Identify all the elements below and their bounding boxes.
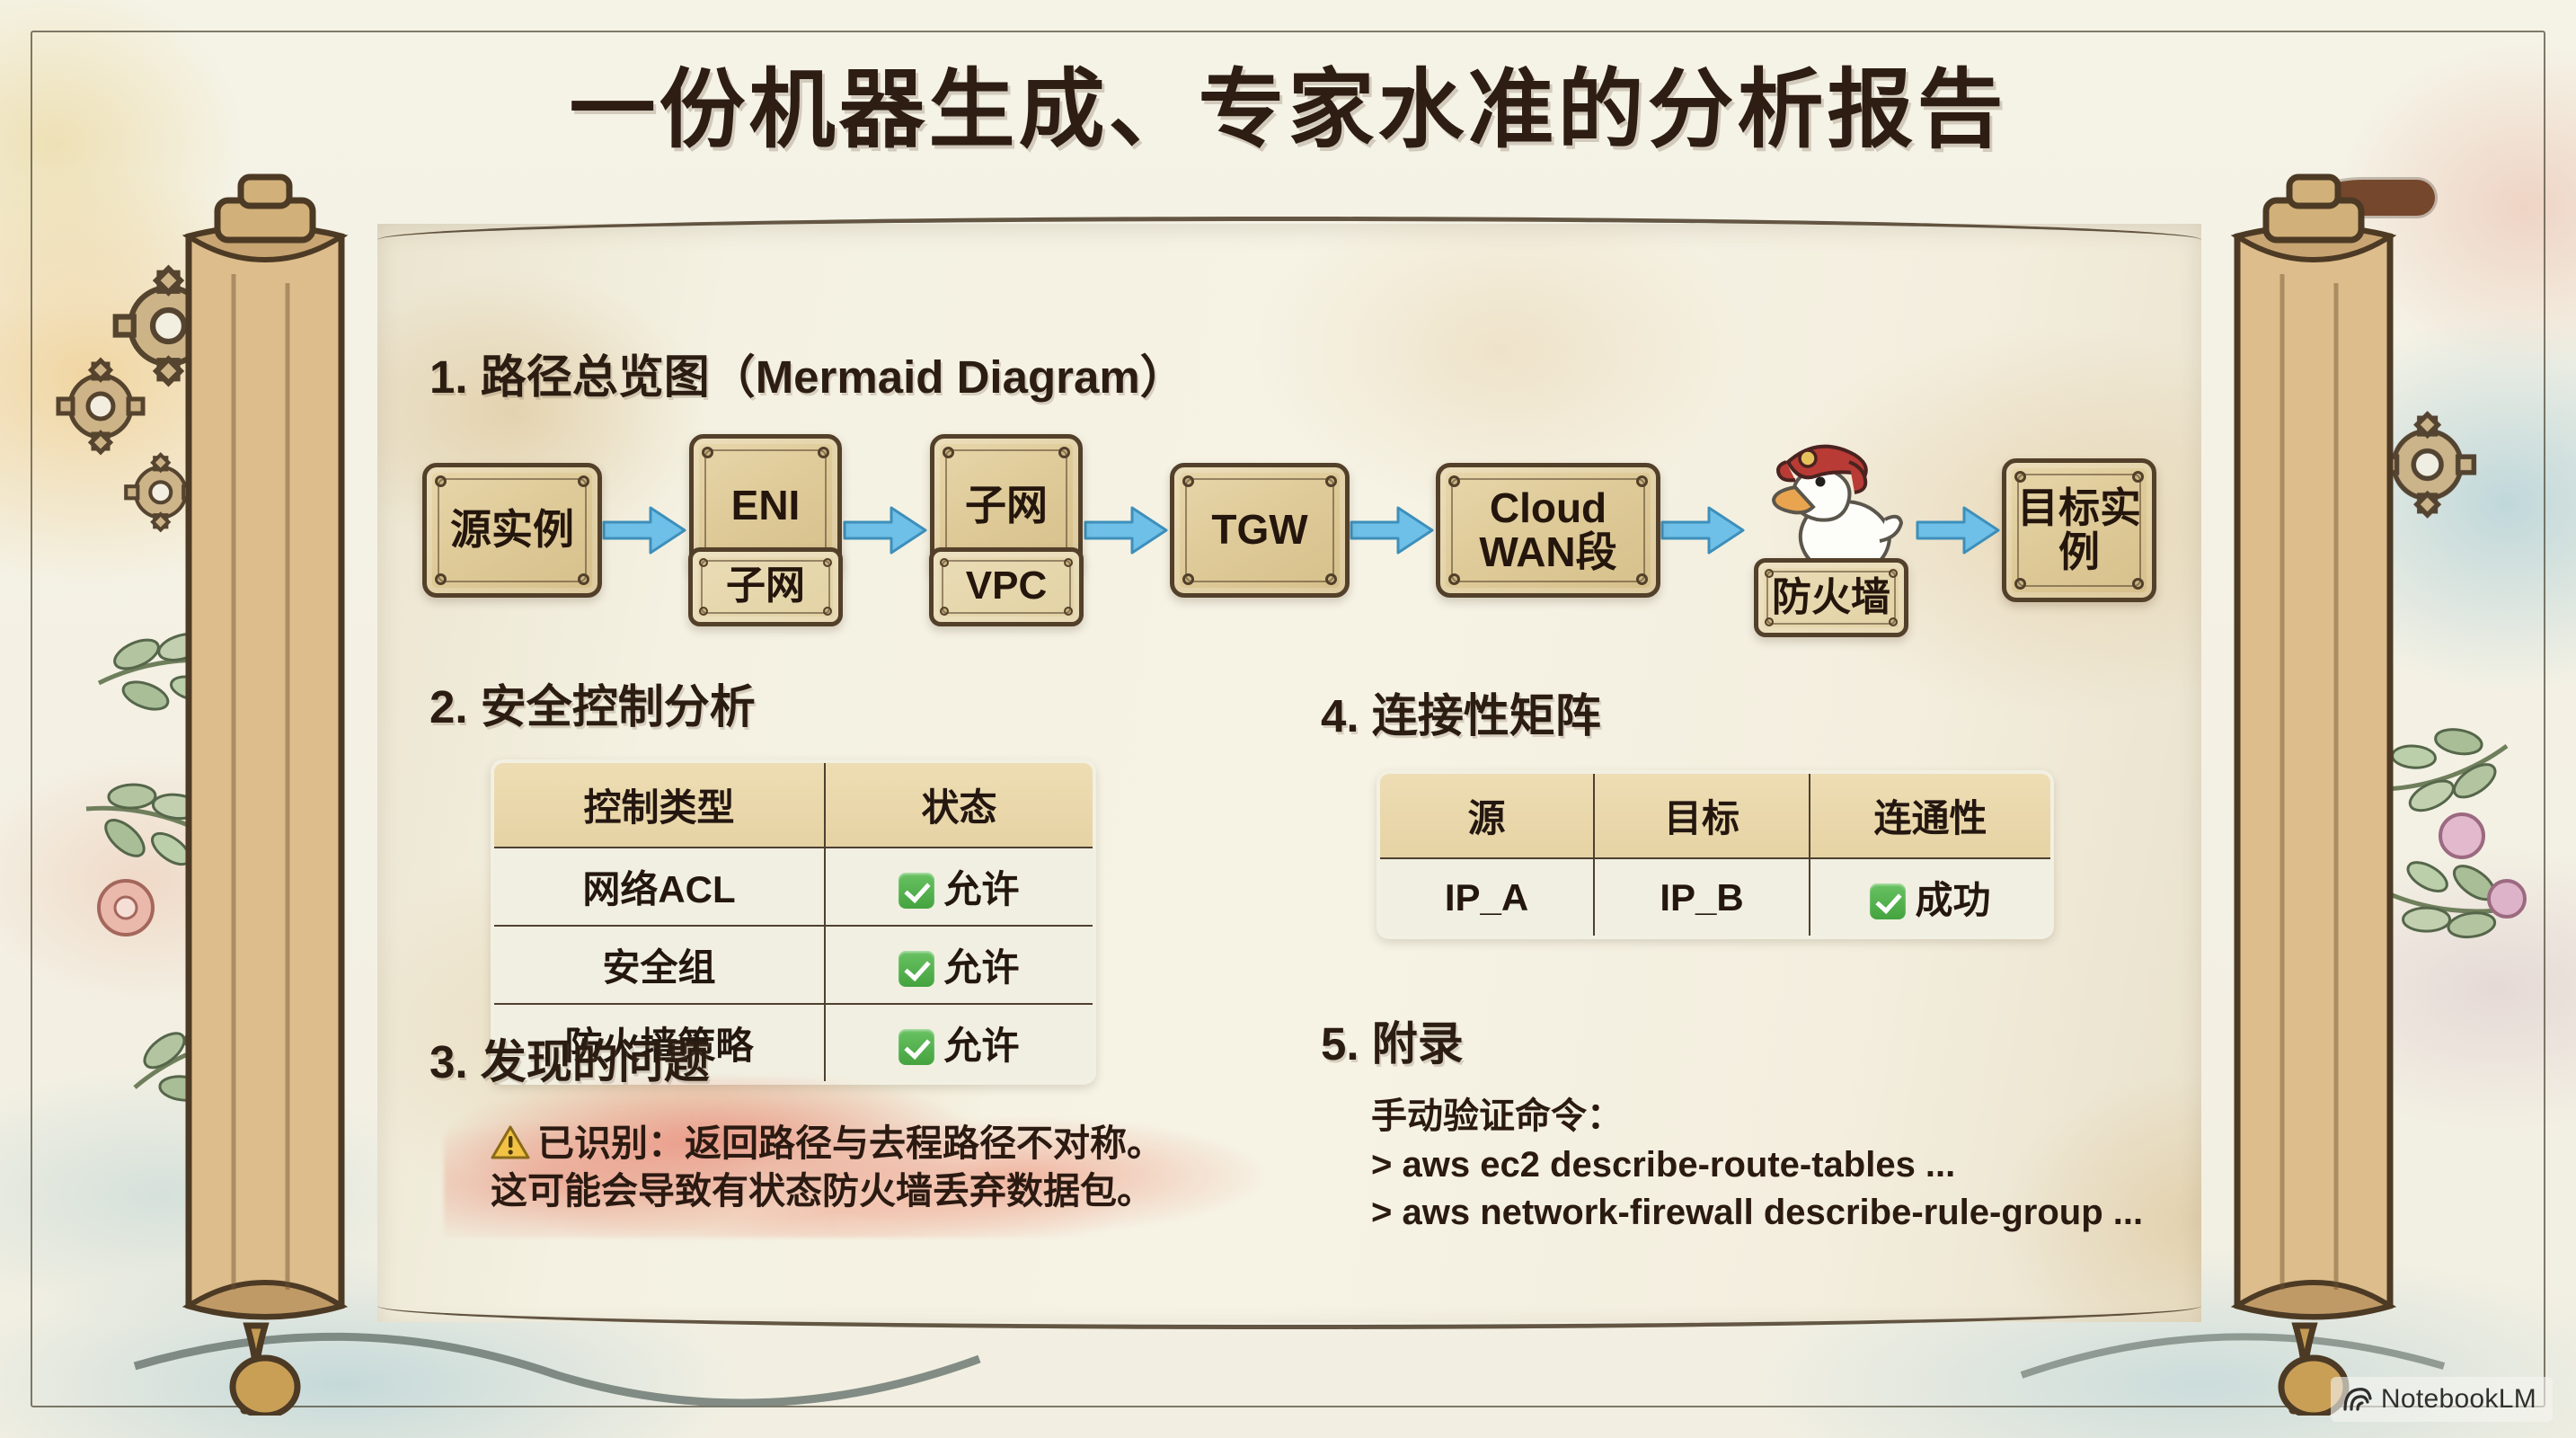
node-sub-plate: 子网 [688,547,843,626]
flow-node-source-instance[interactable]: 源实例 [422,463,602,598]
rivet-icon [435,475,447,487]
table-header-row: 源 目标 连通性 [1378,772,2052,858]
rivet-icon [1182,475,1194,487]
rivet-icon [1889,617,1898,626]
section-4-heading: 4. 连接性矩阵 [1321,679,2054,745]
path-overview-diagram: 源实例 ENI 子网 子网 [422,422,2156,637]
column-header-connectivity: 连通性 [1810,772,2052,858]
issue-line-1: 已识别：返回路径与去程路径不对称。 [491,1120,1229,1167]
column-header-destination: 目标 [1594,772,1810,858]
rivet-icon [943,447,954,458]
section-5-heading: 5. 附录 [1321,1007,2143,1073]
rivet-icon [1325,475,1337,487]
node-plate: 源实例 [422,463,602,598]
rivet-icon [1889,569,1898,578]
rivet-icon [699,558,708,567]
rivet-icon [2014,578,2026,590]
table-row: 安全组 允许 [492,926,1094,1004]
issue-line-2: 这可能会导致有状态防火墙丢弃数据包。 [491,1167,1229,1215]
arrow-right-icon [1082,502,1172,558]
notebooklm-watermark: NotebookLM [2331,1377,2553,1422]
arrow-right-icon [1914,502,2004,558]
check-icon [899,951,934,987]
rivet-icon [1325,573,1337,585]
column-header-source: 源 [1378,772,1594,858]
table-header-row: 控制类型 状态 [492,761,1094,848]
arrow-right-icon [1659,502,1748,558]
scroll-roll-left [153,130,377,1416]
appendix-content: 手动验证命令： > aws ec2 describe-route-tables … [1371,1093,2143,1238]
section-1-heading: 1. 路径总览图（Mermaid Diagram） [429,340,1186,406]
node-label: 防火墙 [1772,577,1890,618]
check-icon [1870,883,1906,919]
node-plate: Cloud WAN段 [1436,463,1660,598]
rivet-icon [2132,578,2144,590]
cell-destination: IP_B [1594,858,1810,937]
rivet-icon [435,573,447,585]
rivet-icon [1064,558,1073,567]
node-plate: TGW [1170,463,1350,598]
node-label: 源实例 [450,508,574,551]
notebooklm-logo-icon [2341,1386,2372,1413]
rivet-icon [1636,573,1648,585]
flow-node-subnet[interactable]: 子网 VPC [929,434,1084,626]
node-label: 子网 [965,484,1048,527]
rivet-icon [818,447,829,458]
rivet-icon [823,607,832,616]
cell-source: IP_A [1378,858,1594,937]
node-sub-plate: VPC [929,547,1084,626]
node-label: TGW [1211,508,1307,551]
rivet-icon [823,558,832,567]
node-sub-label: 子网 [726,565,805,607]
page-title: 一份机器生成、专家水准的分析报告 [0,40,2576,164]
rivet-icon [1064,607,1073,616]
table-row: IP_A IP_B 成功 [1378,858,2052,937]
section-5: 5. 附录 手动验证命令： > aws ec2 describe-route-t… [1321,1007,2143,1238]
rivet-icon [1765,617,1774,626]
node-label: Cloud WAN段 [1440,486,1656,573]
section-3: 3. 发现的问题 已识别：返回路径与去程路径不对称。 这可能会导致有状态防火墙丢… [429,1025,1245,1229]
arrow-right-icon [841,502,931,558]
rivet-icon [1182,573,1194,585]
flow-node-target-instance[interactable]: 目标实例 [2002,458,2156,602]
connectivity-matrix-table-wrapper: 源 目标 连通性 IP_A IP_B 成功 [1377,770,2054,939]
cell-status: 允许 [825,848,1094,926]
appendix-command-1: > aws ec2 describe-route-tables ... [1371,1141,2143,1190]
section-2-heading: 2. 安全控制分析 [429,670,1096,736]
section-2: 2. 安全控制分析 控制类型 状态 网络ACL 允许 安全组 [429,670,1096,1085]
section-4: 4. 连接性矩阵 源 目标 连通性 IP_A IP_B 成功 [1321,679,2054,939]
flow-node-tgw[interactable]: TGW [1170,463,1350,598]
cell-status: 允许 [825,926,1094,1004]
rivet-icon [2132,471,2144,483]
rivet-icon [2014,471,2026,483]
parchment-bottom-edge [377,1306,2201,1329]
watermark-label: NotebookLM [2381,1384,2536,1415]
flow-node-firewall[interactable]: 防火墙 [1750,422,1912,637]
rivet-icon [578,475,589,487]
warning-triangle-icon [491,1124,530,1160]
rivet-icon [1636,475,1648,487]
section-3-heading: 3. 发现的问题 [429,1025,1245,1091]
scroll-roll-right [2201,130,2426,1416]
rivet-icon [1058,447,1070,458]
rivet-icon [940,558,949,567]
rivet-icon [940,607,949,616]
connectivity-matrix-table: 源 目标 连通性 IP_A IP_B 成功 [1377,770,2054,939]
firewall-label-plate: 防火墙 [1754,558,1908,637]
cell-control-type: 网络ACL [492,848,825,926]
appendix-command-2: > aws network-firewall describe-rule-gro… [1371,1189,2143,1238]
node-plate: 目标实例 [2002,458,2156,602]
rivet-icon [1448,573,1460,585]
issue-callout: 已识别：返回路径与去程路径不对称。 这可能会导致有状态防火墙丢弃数据包。 [482,1111,1245,1229]
rivet-icon [1765,569,1774,578]
node-label: ENI [731,484,801,527]
node-sub-label: VPC [966,565,1047,607]
table-row: 网络ACL 允许 [492,848,1094,926]
cell-connectivity: 成功 [1810,858,2052,937]
arrow-right-icon [1348,502,1438,558]
check-icon [899,873,934,909]
parchment-top-edge [377,217,2201,240]
appendix-label: 手动验证命令： [1371,1093,2143,1141]
node-label: 目标实例 [2006,486,2152,573]
flow-node-eni[interactable]: ENI 子网 [688,434,843,626]
cell-control-type: 安全组 [492,926,825,1004]
rivet-icon [578,573,589,585]
rivet-icon [702,447,713,458]
rivet-icon [699,607,708,616]
arrow-right-icon [600,502,690,558]
column-header-status: 状态 [825,761,1094,848]
flow-node-cloud-wan[interactable]: Cloud WAN段 [1436,463,1660,598]
rivet-icon [1448,475,1460,487]
column-header-control-type: 控制类型 [492,761,825,848]
